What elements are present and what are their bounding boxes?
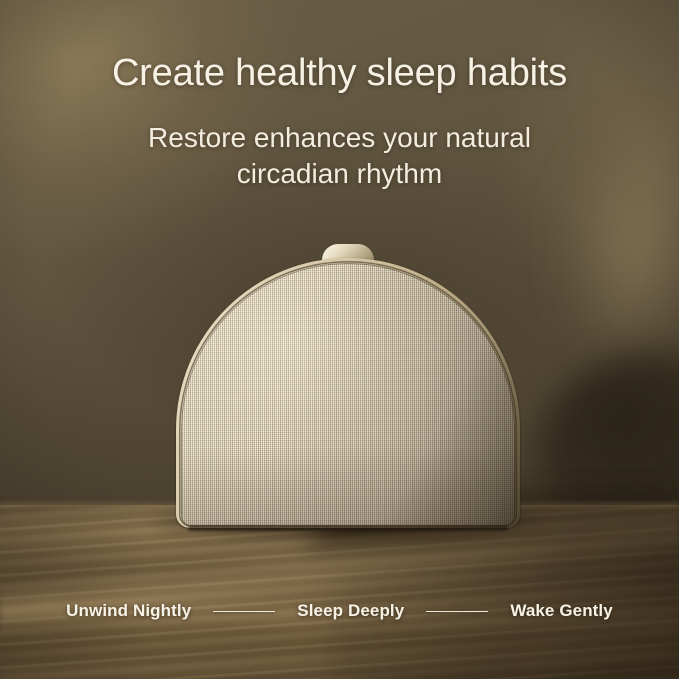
- subtitle-line-1: Restore enhances your natural: [0, 120, 679, 156]
- subtitle-line-2: circadian rhythm: [0, 156, 679, 192]
- device-base-gap: [188, 526, 508, 531]
- caption-separator-1: [213, 611, 275, 612]
- caption-unwind-nightly: Unwind Nightly: [66, 601, 191, 621]
- page-subtitle: Restore enhances your natural circadian …: [0, 120, 679, 192]
- page-title: Create healthy sleep habits: [0, 52, 679, 95]
- product-device: [176, 258, 520, 528]
- benefit-caption-row: Unwind Nightly Sleep Deeply Wake Gently: [0, 601, 679, 621]
- caption-sleep-deeply: Sleep Deeply: [297, 601, 404, 621]
- caption-separator-2: [426, 611, 488, 612]
- product-marketing-scene: Create healthy sleep habits Restore enha…: [0, 0, 679, 679]
- caption-wake-gently: Wake Gently: [510, 601, 613, 621]
- device-rim-shadow: [176, 258, 520, 528]
